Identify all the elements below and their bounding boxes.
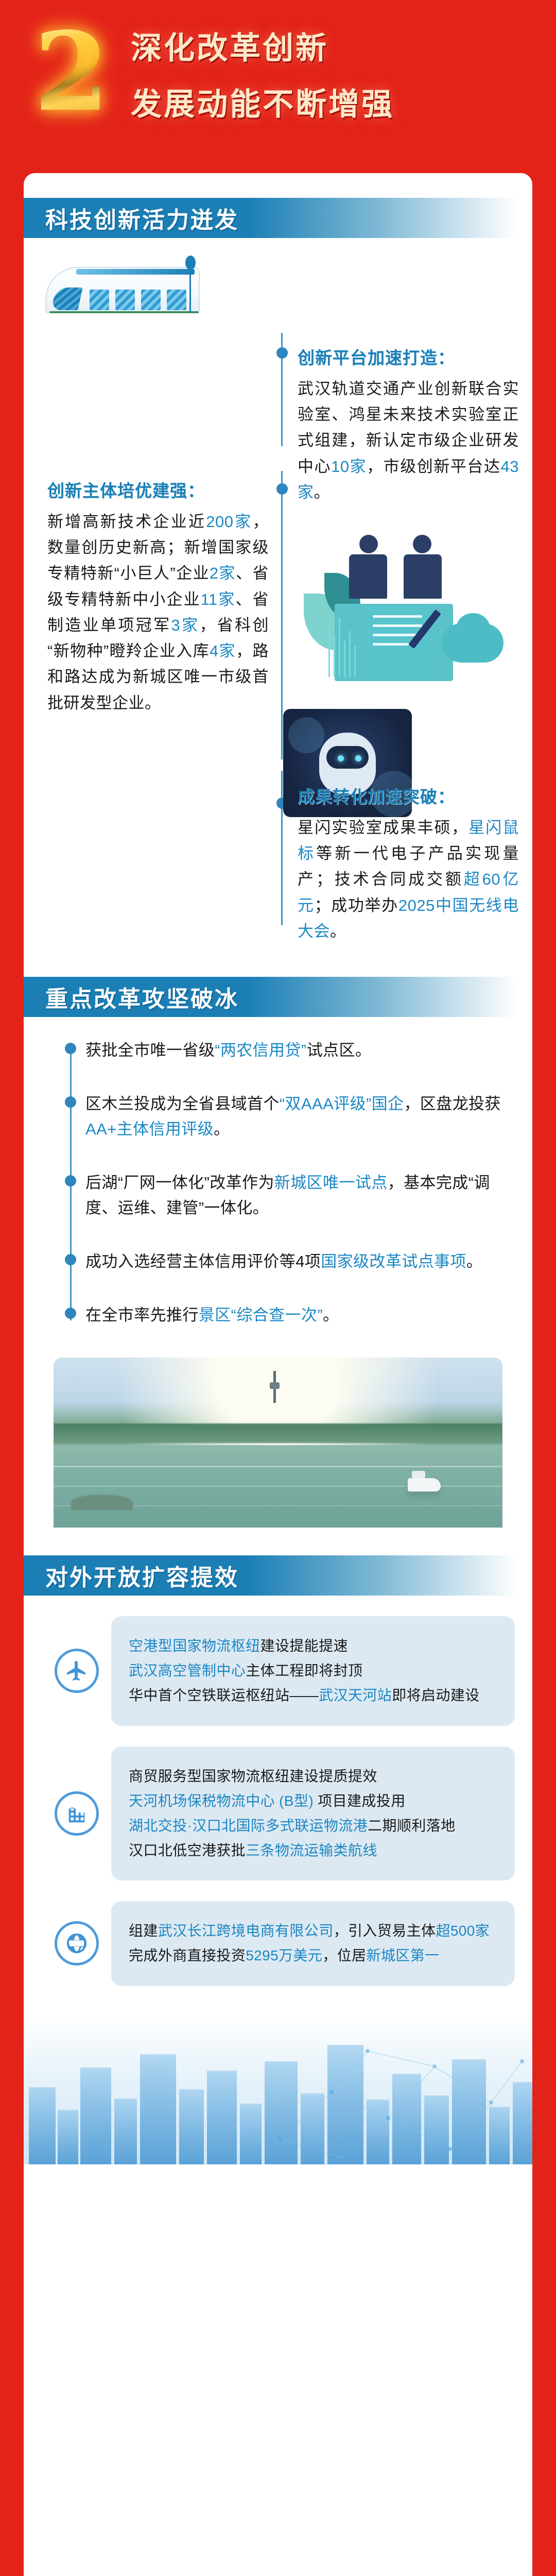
open-economy-card-2: 商贸服务型国家物流枢纽建设提质提效 天河机场保税物流中心 (B型) 项目建成投用… (41, 1747, 515, 1881)
city-skyline-footer (24, 2015, 532, 2164)
card-line: 商贸服务型国家物流枢纽建设提质提效 (129, 1764, 497, 1789)
airplane-icon (55, 1649, 99, 1693)
list-item: 在全市率先推行景区“综合查一次”。 (85, 1302, 515, 1328)
card-line: 完成外商直接投资5295万美元，位居新城区第一 (129, 1943, 497, 1968)
list-item: 获批全市唯一省级“两农信用贷”试点区。 (85, 1038, 515, 1063)
block-title: 成果转化加速突破： (298, 783, 519, 808)
list-item-text: 区木兰投成为全省县域首个“双AAA评级”国企，区盘龙投获AA+主体信用评级。 (85, 1091, 515, 1142)
section-banner-1-label: 科技创新活力迸发 (45, 201, 239, 234)
infographic-page: 2 深化改革创新 发展动能不断增强 科技创新活力迸发 (0, 0, 556, 2576)
list-item-text: 后湖“厂网一体化”改革作为新城区唯一试点，基本完成“调度、运维、建管”一体化。 (85, 1170, 515, 1221)
open-economy-card-3: 组建武汉长江跨境电商有限公司，引入贸易主体超500家 完成外商直接投资5295万… (41, 1901, 515, 1986)
connector-line-1 (281, 333, 283, 446)
list-item-text: 成功入选经营主体信用评价等4项国家级改革试点事项。 (85, 1249, 515, 1275)
scenic-lake-photo (54, 1358, 502, 1528)
section-1-body: 创新平台加速打造： 武汉轨道交通产业创新联合实验室、鸿星未来技术实验室正式组建，… (24, 256, 532, 956)
card-line: 空港型国家物流枢纽建设提能提速 (129, 1634, 497, 1658)
bullet-dot-icon (65, 1096, 76, 1108)
card-line: 组建武汉长江跨境电商有限公司，引入贸易主体超500家 (129, 1919, 497, 1943)
reform-timeline: 获批全市唯一省级“两农信用贷”试点区。 区木兰投成为全省县域首个“双AAA评级”… (41, 1038, 515, 1328)
globe-pin-icon (55, 1921, 99, 1965)
content-sheet: 科技创新活力迸发 (24, 173, 532, 2576)
list-item: 成功入选经营主体信用评价等4项国家级改革试点事项。 (85, 1249, 515, 1275)
section-number: 2 (31, 26, 112, 118)
list-item: 后湖“厂网一体化”改革作为新城区唯一试点，基本完成“调度、运维、建管”一体化。 (85, 1170, 515, 1221)
train-illustration (45, 256, 200, 313)
card-line: 湖北交投·汉口北国际多式联运物流港二期顺利落地 (129, 1814, 497, 1838)
block-text: 武汉轨道交通产业创新联合实验室、鸿星未来技术实验室正式组建，新认定市级企业研发中… (298, 376, 519, 505)
hero-title-line2: 发展动能不断增强 (131, 79, 394, 124)
card-line: 华中首个空铁联运枢纽站——武汉天河站即将启动建设 (129, 1683, 497, 1708)
open-economy-card-1: 空港型国家物流枢纽建设提能提速 武汉高空管制中心主体工程即将封顶 华中首个空铁联… (41, 1616, 515, 1725)
card-line: 武汉高空管制中心主体工程即将封顶 (129, 1658, 497, 1683)
bullet-dot-icon (65, 1175, 76, 1187)
list-item-text: 获批全市唯一省级“两农信用贷”试点区。 (85, 1038, 515, 1063)
section-banner-3-label: 对外开放扩容提效 (45, 1559, 239, 1592)
section-banner-2: 重点改革攻坚破冰 (24, 977, 532, 1017)
bullet-dot-icon (65, 1254, 76, 1265)
block-results-transformation: 成果转化加速突破： 星闪实验室成果丰硕，星闪鼠标等新一代电子产品实现量产；技术合… (298, 783, 519, 944)
list-item-text: 在全市率先推行景区“综合查一次”。 (85, 1302, 515, 1328)
section-banner-2-label: 重点改革攻坚破冰 (45, 980, 239, 1013)
hero-header: 2 深化改革创新 发展动能不断增强 (0, 0, 556, 144)
handshake-illustration (304, 532, 515, 686)
content-sheet-stack: 科技创新活力迸发 (0, 173, 556, 2576)
card-body: 组建武汉长江跨境电商有限公司，引入贸易主体超500家 完成外商直接投资5295万… (111, 1901, 515, 1986)
bullet-dot-icon (65, 1043, 76, 1054)
section-2-body: 获批全市唯一省级“两农信用贷”试点区。 区木兰投成为全省县域首个“双AAA评级”… (24, 1038, 532, 1528)
connector-line-3 (281, 771, 283, 925)
block-text: 新增高新技术企业近200家，数量创历史新高；新增国家级专精特新“小巨人”企业2家… (47, 509, 269, 716)
network-lines-decoration (265, 2030, 532, 2164)
section-3-body: 空港型国家物流枢纽建设提能提速 武汉高空管制中心主体工程即将封顶 华中首个空铁联… (24, 1616, 532, 1986)
bullet-dot-icon (65, 1308, 76, 1319)
block-innovation-subject: 创新主体培优建强： 新增高新技术企业近200家，数量创历史新高；新增国家级专精特… (47, 477, 269, 716)
connector-line-2 (281, 471, 283, 759)
block-title: 创新主体培优建强： (47, 477, 269, 502)
block-text: 星闪实验室成果丰硕，星闪鼠标等新一代电子产品实现量产；技术合同成交额超60亿元；… (298, 815, 519, 944)
hero-title-line1: 深化改革创新 (131, 23, 394, 68)
card-body: 商贸服务型国家物流枢纽建设提质提效 天河机场保税物流中心 (B型) 项目建成投用… (111, 1747, 515, 1881)
section-banner-1: 科技创新活力迸发 (24, 198, 532, 238)
building-icon (55, 1791, 99, 1836)
card-line: 天河机场保税物流中心 (B型) 项目建成投用 (129, 1789, 497, 1814)
block-innovation-platform: 创新平台加速打造： 武汉轨道交通产业创新联合实验室、鸿星未来技术实验室正式组建，… (298, 344, 519, 505)
block-title: 创新平台加速打造： (298, 344, 519, 369)
card-body: 空港型国家物流枢纽建设提能提速 武汉高空管制中心主体工程即将封顶 华中首个空铁联… (111, 1616, 515, 1725)
card-line: 汉口北低空港获批三条物流运输类航线 (129, 1838, 497, 1863)
list-item: 区木兰投成为全省县域首个“双AAA评级”国企，区盘龙投获AA+主体信用评级。 (85, 1091, 515, 1142)
section-banner-3: 对外开放扩容提效 (24, 1555, 532, 1596)
